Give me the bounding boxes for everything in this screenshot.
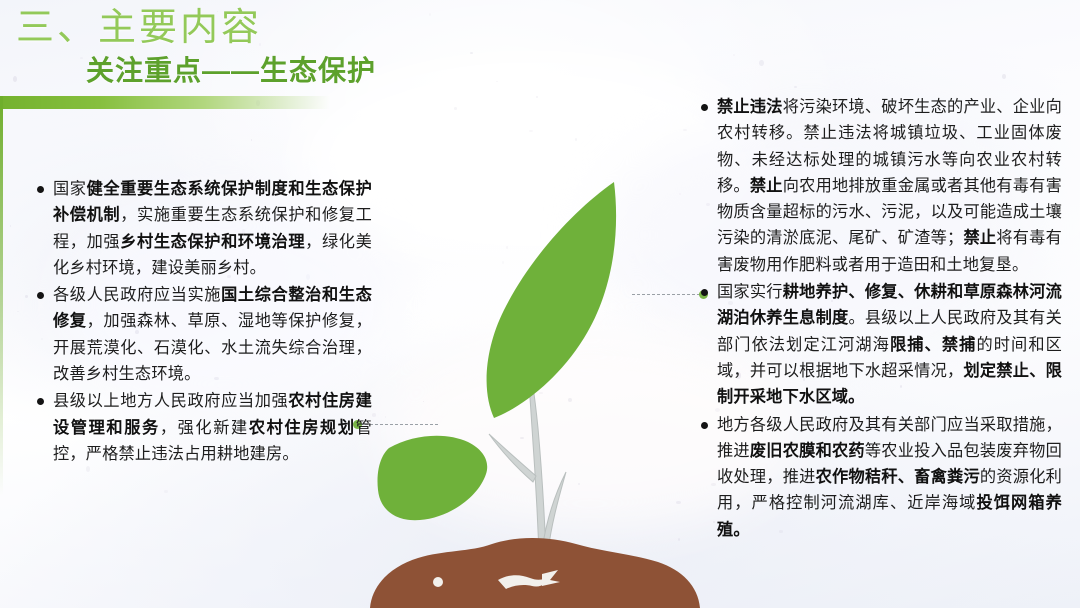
body-text: 县级以上地方人民政府应当加强 [53,392,288,410]
connector-line-right [632,294,700,295]
left-edge-rule [0,96,3,496]
background-speck [759,60,764,66]
background-speck [536,96,538,98]
emphasis-text: 废旧农膜和农药 [750,442,865,460]
background-speck [496,81,498,82]
body-text: 各级人民政府应当实施 [53,286,221,304]
bullet-agricultural-waste-recycling: 地方各级人民政府及其有关部门应当采取措施，推进废旧农膜和农药等农业投入品包装废弃… [700,412,1062,543]
body-text: ，强化新建 [160,419,249,437]
bullet-rural-housing-management: 县级以上地方人民政府应当加强农村住房建设管理和服务，强化新建农村住房规划管控，严… [36,388,372,467]
soil-mound [370,538,700,608]
slide-canvas: 三、主要内容 关注重点——生态保护 国家健全重要生态系统保护制度和生态保护补偿机… [0,0,1080,608]
body-text: 国家实行 [717,283,783,301]
page-title: 三、主要内容 [16,6,262,50]
bullet-farmland-recuperation-system: 国家实行耕地养护、修复、休耕和草原森林河流湖泊休养生息制度。县级以上人民政府及其… [700,279,1062,410]
bullet-land-comprehensive-remediation: 各级人民政府应当实施国土综合整治和生态修复，加强森林、草原、湿地等保护修复，开展… [36,282,372,387]
right-text-column: 禁止违法将污染环境、破坏生态的产业、企业向农村转移。禁止违法将城镇垃圾、工业固体… [700,94,1062,544]
body-text: ，加强森林、草原、湿地等保护修复，开展荒漠化、石漠化、水土流失综合治理，改善乡村… [53,312,372,383]
emphasis-text: 禁止 [963,229,996,247]
background-speck [13,76,17,82]
emphasis-text: 农作物秸秆、畜禽粪污 [816,468,980,486]
background-speck [575,138,577,141]
background-speck [10,225,11,227]
background-speck [25,295,28,298]
background-speck [17,311,19,312]
body-text: 国家 [53,180,87,198]
small-leaf [377,436,487,520]
background-speck [794,86,797,88]
page-subtitle: 关注重点——生态保护 [86,54,376,88]
background-speck [429,13,431,16]
background-speck [470,52,473,54]
background-speck [529,130,533,132]
header-divider-bar [0,96,330,109]
emphasis-text: 乡村生态保护和环境治理 [120,233,305,251]
background-speck [1002,74,1006,79]
background-speck [454,107,457,110]
emphasis-text: 禁止 [750,177,783,195]
seedling-illustration [352,170,742,608]
emphasis-text: 禁止违法 [717,98,783,116]
emphasis-text: 限捕、禁捕 [890,336,976,354]
bullet-prohibit-illegal-transfer: 禁止违法将污染环境、破坏生态的产业、企业向农村转移。禁止违法将城镇垃圾、工业固体… [700,94,1062,278]
emphasis-text: 农村住房规划 [249,419,356,437]
background-speck [251,139,252,141]
background-speck [683,129,687,131]
background-speck [733,54,735,56]
large-leaf [487,182,617,418]
background-speck [80,57,83,59]
bullet-eco-protection-system: 国家健全重要生态系统保护制度和生态保护补偿机制，实施重要生态系统保护和修复工程，… [36,176,372,281]
background-speck [164,490,168,493]
left-text-column: 国家健全重要生态系统保护制度和生态保护补偿机制，实施重要生态系统保护和修复工程，… [36,176,372,468]
